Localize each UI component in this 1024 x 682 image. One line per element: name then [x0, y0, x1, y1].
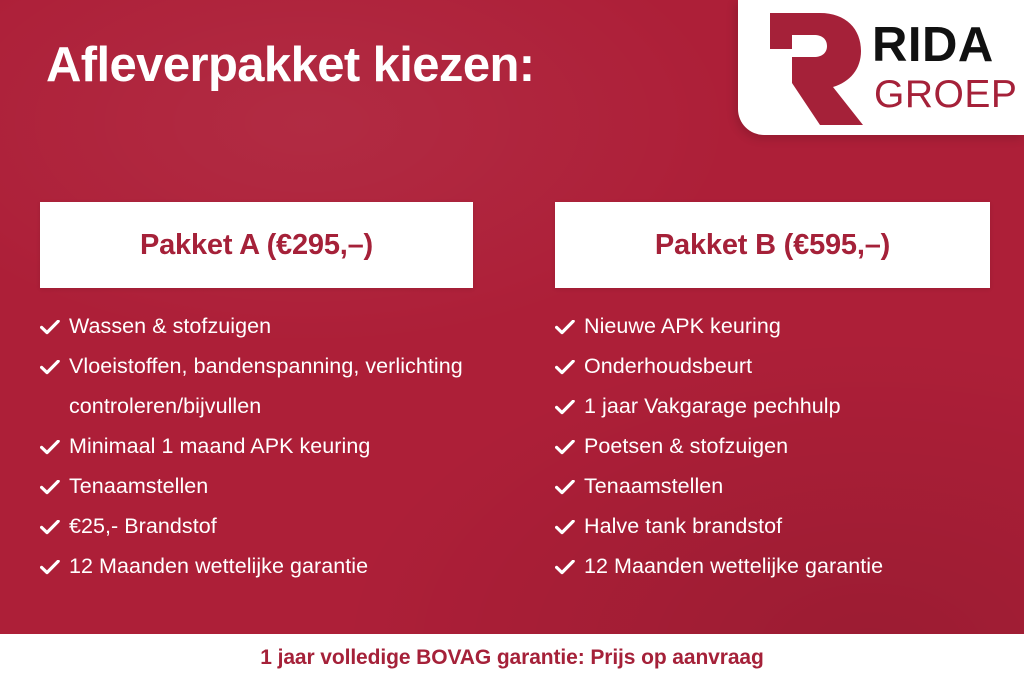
- list-item: Nieuwe APK keuring: [555, 306, 990, 346]
- list-item: Onderhoudsbeurt: [555, 346, 990, 386]
- list-item: €25,- Brandstof: [40, 506, 473, 546]
- check-icon: [555, 507, 584, 536]
- package-column-b: Pakket B (€595,–) Nieuwe APK keuring Ond…: [512, 202, 1024, 586]
- list-item-label: Onderhoudsbeurt: [584, 346, 990, 386]
- list-item-label: 1 jaar Vakgarage pechhulp: [584, 386, 990, 426]
- list-item: Halve tank brandstof: [555, 506, 990, 546]
- list-item: 12 Maanden wettelijke garantie: [555, 546, 990, 586]
- list-item-label: Minimaal 1 maand APK keuring: [69, 426, 473, 466]
- list-item-label: Tenaamstellen: [69, 466, 473, 506]
- check-icon: [555, 387, 584, 416]
- check-icon: [40, 347, 69, 376]
- list-item-label: Wassen & stofzuigen: [69, 306, 473, 346]
- check-icon: [40, 427, 69, 456]
- rida-r-monogram-icon: [762, 9, 866, 129]
- package-b-title: Pakket B (€595,–): [655, 229, 890, 262]
- check-icon: [555, 347, 584, 376]
- list-item: 12 Maanden wettelijke garantie: [40, 546, 473, 586]
- check-icon: [40, 547, 69, 576]
- check-icon: [40, 467, 69, 496]
- package-a-feature-list: Wassen & stofzuigen Vloeistoffen, banden…: [40, 306, 473, 586]
- brand-logo-panel: RIDA GROEP: [738, 0, 1024, 135]
- check-icon: [555, 307, 584, 336]
- list-item: Tenaamstellen: [40, 466, 473, 506]
- check-icon: [555, 467, 584, 496]
- footer-banner: 1 jaar volledige BOVAG garantie: Prijs o…: [0, 634, 1024, 682]
- list-item: Poetsen & stofzuigen: [555, 426, 990, 466]
- list-item-label: Halve tank brandstof: [584, 506, 990, 546]
- package-column-a: Pakket A (€295,–) Wassen & stofzuigen Vl…: [0, 202, 512, 586]
- brand-wordmark: RIDA GROEP: [872, 21, 1017, 114]
- check-icon: [555, 427, 584, 456]
- list-item-label: Vloeistoffen, bandenspanning, verlichtin…: [69, 346, 473, 426]
- list-item: Tenaamstellen: [555, 466, 990, 506]
- footer-banner-text: 1 jaar volledige BOVAG garantie: Prijs o…: [260, 646, 763, 670]
- list-item-label: 12 Maanden wettelijke garantie: [584, 546, 990, 586]
- afleverpakket-poster: Afleverpakket kiezen: RIDA GROEP Pakket …: [0, 0, 1024, 682]
- check-icon: [555, 547, 584, 576]
- package-columns: Pakket A (€295,–) Wassen & stofzuigen Vl…: [0, 202, 1024, 586]
- list-item-label: Nieuwe APK keuring: [584, 306, 990, 346]
- package-b-header-card[interactable]: Pakket B (€595,–): [555, 202, 990, 288]
- brand-name-secondary: GROEP: [874, 75, 1017, 114]
- check-icon: [40, 507, 69, 536]
- page-title: Afleverpakket kiezen:: [46, 34, 726, 96]
- list-item: Minimaal 1 maand APK keuring: [40, 426, 473, 466]
- package-b-feature-list: Nieuwe APK keuring Onderhoudsbeurt 1 jaa…: [555, 306, 990, 586]
- check-icon: [40, 307, 69, 336]
- list-item-label: 12 Maanden wettelijke garantie: [69, 546, 473, 586]
- list-item: 1 jaar Vakgarage pechhulp: [555, 386, 990, 426]
- package-a-title: Pakket A (€295,–): [140, 229, 373, 262]
- list-item-label: €25,- Brandstof: [69, 506, 473, 546]
- package-a-header-card[interactable]: Pakket A (€295,–): [40, 202, 473, 288]
- list-item: Wassen & stofzuigen: [40, 306, 473, 346]
- list-item: Vloeistoffen, bandenspanning, verlichtin…: [40, 346, 473, 426]
- brand-name-primary: RIDA: [872, 21, 1017, 70]
- list-item-label: Tenaamstellen: [584, 466, 990, 506]
- list-item-label: Poetsen & stofzuigen: [584, 426, 990, 466]
